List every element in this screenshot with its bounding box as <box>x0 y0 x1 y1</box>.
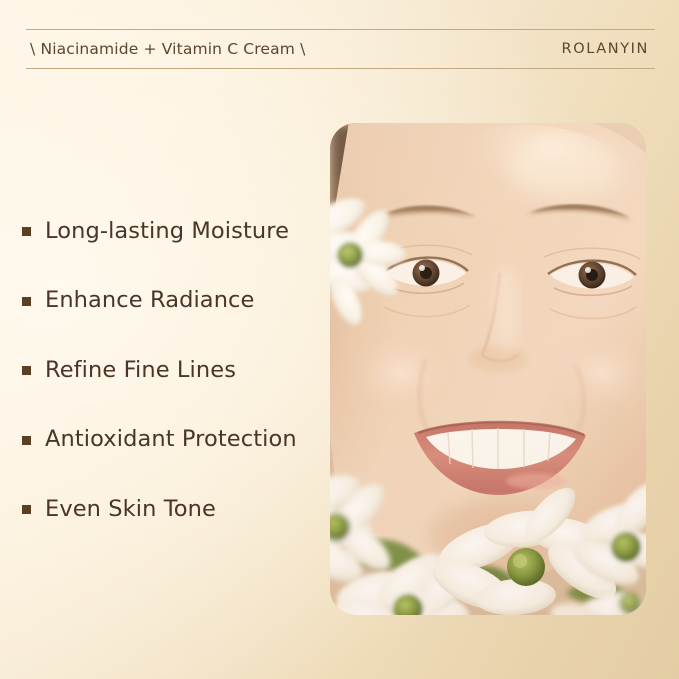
list-item: Long-lasting Moisture <box>22 196 322 266</box>
header-bar: \ Niacinamide + Vitamin C Cream \ ROLANY… <box>26 29 655 69</box>
feature-label: Long-lasting Moisture <box>45 218 289 244</box>
product-model-photo <box>330 123 646 615</box>
square-bullet-icon <box>22 297 31 306</box>
product-feature-card: \ Niacinamide + Vitamin C Cream \ ROLANY… <box>0 0 679 679</box>
list-item: Refine Fine Lines <box>22 335 322 405</box>
feature-label: Enhance Radiance <box>45 287 254 313</box>
square-bullet-icon <box>22 436 31 445</box>
square-bullet-icon <box>22 366 31 375</box>
product-name-label: \ Niacinamide + Vitamin C Cream \ <box>26 40 305 58</box>
brand-logo-text: ROLANYIN <box>562 41 655 57</box>
feature-label: Antioxidant Protection <box>45 426 297 452</box>
photo-warm-grade <box>330 123 646 615</box>
model-portrait-illustration <box>330 123 646 615</box>
list-item: Even Skin Tone <box>22 474 322 544</box>
square-bullet-icon <box>22 505 31 514</box>
feature-label: Even Skin Tone <box>45 496 216 522</box>
list-item: Enhance Radiance <box>22 266 322 336</box>
feature-label: Refine Fine Lines <box>45 357 236 383</box>
square-bullet-icon <box>22 227 31 236</box>
list-item: Antioxidant Protection <box>22 405 322 475</box>
feature-list: Long-lasting Moisture Enhance Radiance R… <box>22 196 322 544</box>
